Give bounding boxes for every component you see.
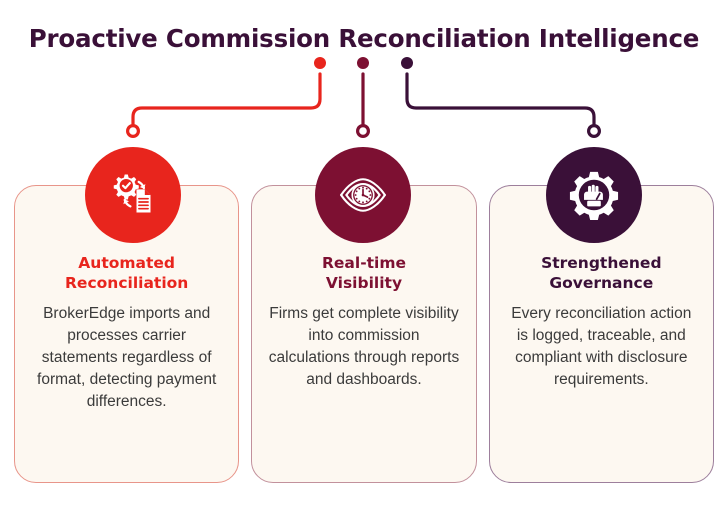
icon-badge-automated-reconciliation xyxy=(85,147,181,243)
card-body: Firms get complete visibility into commi… xyxy=(266,303,461,391)
connector-red-dot xyxy=(314,57,326,69)
card-body: Every reconciliation action is logged, t… xyxy=(504,303,699,391)
connector-purple xyxy=(401,57,599,136)
card-heading: Real-time Visibility xyxy=(266,254,461,294)
eye-clock-icon xyxy=(335,167,391,223)
icon-badge-strengthened-governance xyxy=(546,147,642,243)
card-heading: Automated Reconciliation xyxy=(29,254,224,294)
connector-maroon-endpoint xyxy=(358,126,369,137)
page-title: Proactive Commission Reconciliation Inte… xyxy=(0,24,728,53)
connector-purple-path xyxy=(407,74,594,124)
connector-red-path xyxy=(133,74,320,124)
card-body: BrokerEdge imports and processes carrier… xyxy=(29,303,224,413)
connector-maroon-dot xyxy=(357,57,369,69)
connector-red xyxy=(128,57,326,136)
card-heading: Strengthened Governance xyxy=(504,254,699,294)
connector-red-endpoint xyxy=(128,126,139,137)
gear-check-document-icon xyxy=(105,167,161,223)
fist-gear-icon xyxy=(566,167,622,223)
infographic-root: Proactive Commission Reconciliation Inte… xyxy=(0,0,728,510)
connector-maroon xyxy=(357,57,369,136)
connector-purple-endpoint xyxy=(589,126,600,137)
icon-badge-real-time-visibility xyxy=(315,147,411,243)
connector-purple-dot xyxy=(401,57,413,69)
